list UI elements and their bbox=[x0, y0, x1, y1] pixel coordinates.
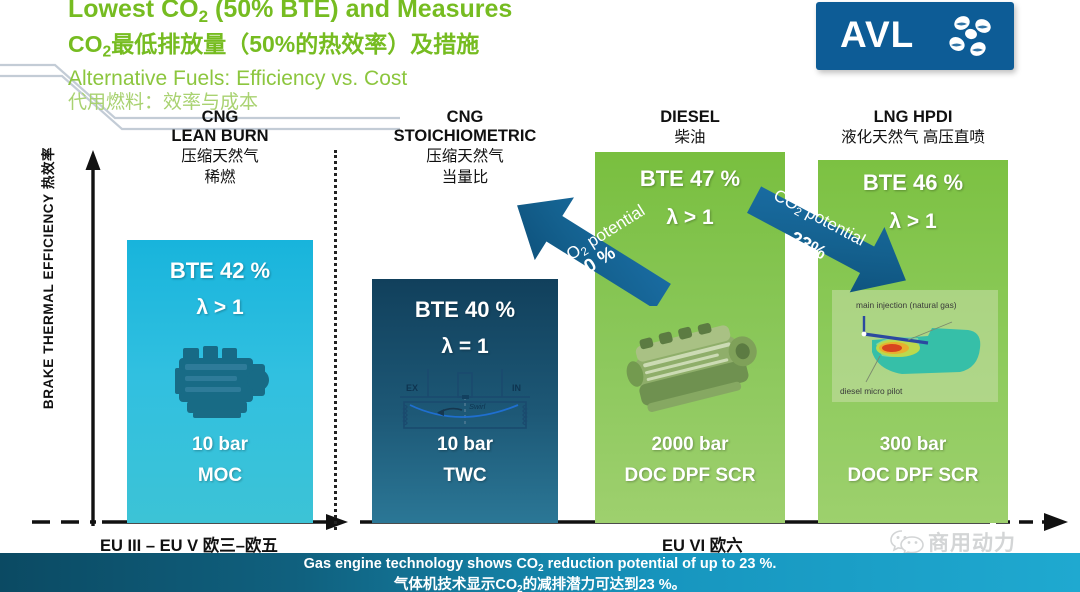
column-title-cn-line2: 稀燃 bbox=[127, 167, 313, 188]
title-line-en-1: Lowest CO2 (50% BTE) and Measures bbox=[68, 0, 828, 30]
bar-pressure-label-cng-lean-burn: 10 bar bbox=[127, 434, 313, 456]
slide-title-block: Lowest CO2 (50% BTE) and Measures CO2最低排… bbox=[68, 0, 828, 115]
column-cng-lean-burn: CNG LEAN BURN 压缩天然气 稀燃 BTE 42 % λ > 1 10… bbox=[127, 108, 313, 523]
bar-lambda-label-cng-stoichiometric: λ = 1 bbox=[372, 335, 558, 359]
bar-pressure-label-cng-stoichiometric: 10 bar bbox=[372, 434, 558, 456]
label-intake: IN bbox=[512, 383, 521, 393]
column-title-en-line2: STOICHIOMETRIC bbox=[372, 127, 558, 146]
wechat-icon bbox=[890, 529, 924, 555]
column-title-cn-line1: 柴油 bbox=[595, 127, 785, 148]
label-diesel-micro-pilot: diesel micro pilot bbox=[840, 386, 903, 396]
hpdi-injection-cfd-diagram: main injection (natural gas) diesel micr… bbox=[832, 290, 998, 402]
arrow-co2-potential-23: CO2 potential -23% bbox=[740, 184, 920, 296]
label-main-injection: main injection (natural gas) bbox=[856, 300, 957, 310]
column-header-cng-stoichiometric: CNG STOICHIOMETRIC 压缩天然气 当量比 bbox=[372, 108, 558, 188]
column-cng-stoichiometric: CNG STOICHIOMETRIC 压缩天然气 当量比 BTE 40 % λ … bbox=[372, 108, 558, 523]
column-title-cn-line1: 压缩天然气 bbox=[127, 146, 313, 167]
column-diesel: DIESEL 柴油 BTE 47 % λ > 1 2000 bar DOC DP… bbox=[595, 108, 785, 523]
arrow-shape-10 bbox=[500, 196, 680, 306]
column-title-en-line1: CNG bbox=[127, 108, 313, 127]
bar-aftertreatment-label-lng-hpdi: DOC DPF SCR bbox=[818, 465, 1008, 487]
label-exhaust: EX bbox=[406, 383, 418, 393]
bar-lambda-label-cng-lean-burn: λ > 1 bbox=[127, 296, 313, 320]
banner-text-en: Gas engine technology shows CO2 reductio… bbox=[0, 556, 1080, 574]
column-title-cn-line1: 压缩天然气 bbox=[372, 146, 558, 167]
column-title-en-line1: CNG bbox=[372, 108, 558, 127]
tech-group-divider bbox=[334, 150, 337, 530]
diesel-engine-render bbox=[613, 312, 771, 422]
bar-pressure-label-lng-hpdi: 300 bar bbox=[818, 434, 1008, 456]
bar-aftertreatment-label-cng-stoichiometric: TWC bbox=[372, 465, 558, 487]
bar-aftertreatment-label-diesel: DOC DPF SCR bbox=[595, 465, 785, 487]
column-header-lng-hpdi: LNG HPDI 液化天然气 高压直喷 bbox=[798, 108, 1028, 148]
arrow-shape-23 bbox=[740, 184, 920, 296]
slide-canvas: Lowest CO2 (50% BTE) and Measures CO2最低排… bbox=[0, 0, 1080, 592]
combustion-chamber-swirl-diagram: EX IN Swirl bbox=[390, 369, 540, 431]
bar-cng-stoichiometric: BTE 40 % λ = 1 10 bar TWC bbox=[372, 279, 558, 523]
column-header-diesel: DIESEL 柴油 bbox=[595, 108, 785, 148]
column-title-cn-line1: 液化天然气 高压直喷 bbox=[798, 127, 1028, 148]
label-swirl: Swirl bbox=[469, 402, 486, 411]
arrow-co2-potential-10: CO2 potential -10 % bbox=[500, 196, 680, 306]
title-line-cn-1: CO2最低排放量（50%的热效率）及措施 bbox=[68, 30, 828, 66]
column-header-cng-lean-burn: CNG LEAN BURN 压缩天然气 稀燃 bbox=[127, 108, 313, 188]
cng-lean-burn-engine-photo bbox=[163, 338, 281, 424]
avl-droplets-logo-icon bbox=[946, 12, 996, 60]
column-title-cn-line2: 当量比 bbox=[372, 167, 558, 188]
column-title-en-line1: DIESEL bbox=[595, 108, 785, 127]
banner-text-cn: 气体机技术显示CO2的减排潜力可达到23 %。 bbox=[0, 573, 1080, 592]
y-axis-up-arrow-icon bbox=[82, 150, 104, 530]
y-axis-label: BRAKE THERMAL EFFICIENCY 热效率 bbox=[37, 113, 57, 443]
title-line-en-2: Alternative Fuels: Efficiency vs. Cost bbox=[68, 66, 828, 91]
avl-logo: AVL bbox=[816, 2, 1014, 70]
bar-value-label-cng-lean-burn: BTE 42 % bbox=[127, 258, 313, 284]
bar-pressure-label-diesel: 2000 bar bbox=[595, 434, 785, 456]
column-lng-hpdi: LNG HPDI 液化天然气 高压直喷 BTE 46 % λ > 1 300 b… bbox=[818, 108, 1008, 523]
avl-logo-text: AVL bbox=[840, 14, 914, 56]
bottom-banner: Gas engine technology shows CO2 reductio… bbox=[0, 553, 1080, 592]
column-title-en-line1: LNG HPDI bbox=[798, 108, 1028, 127]
column-title-en-line2: LEAN BURN bbox=[127, 127, 313, 146]
bar-aftertreatment-label-cng-lean-burn: MOC bbox=[127, 465, 313, 487]
bar-cng-lean-burn: BTE 42 % λ > 1 10 bar MOC bbox=[127, 240, 313, 523]
